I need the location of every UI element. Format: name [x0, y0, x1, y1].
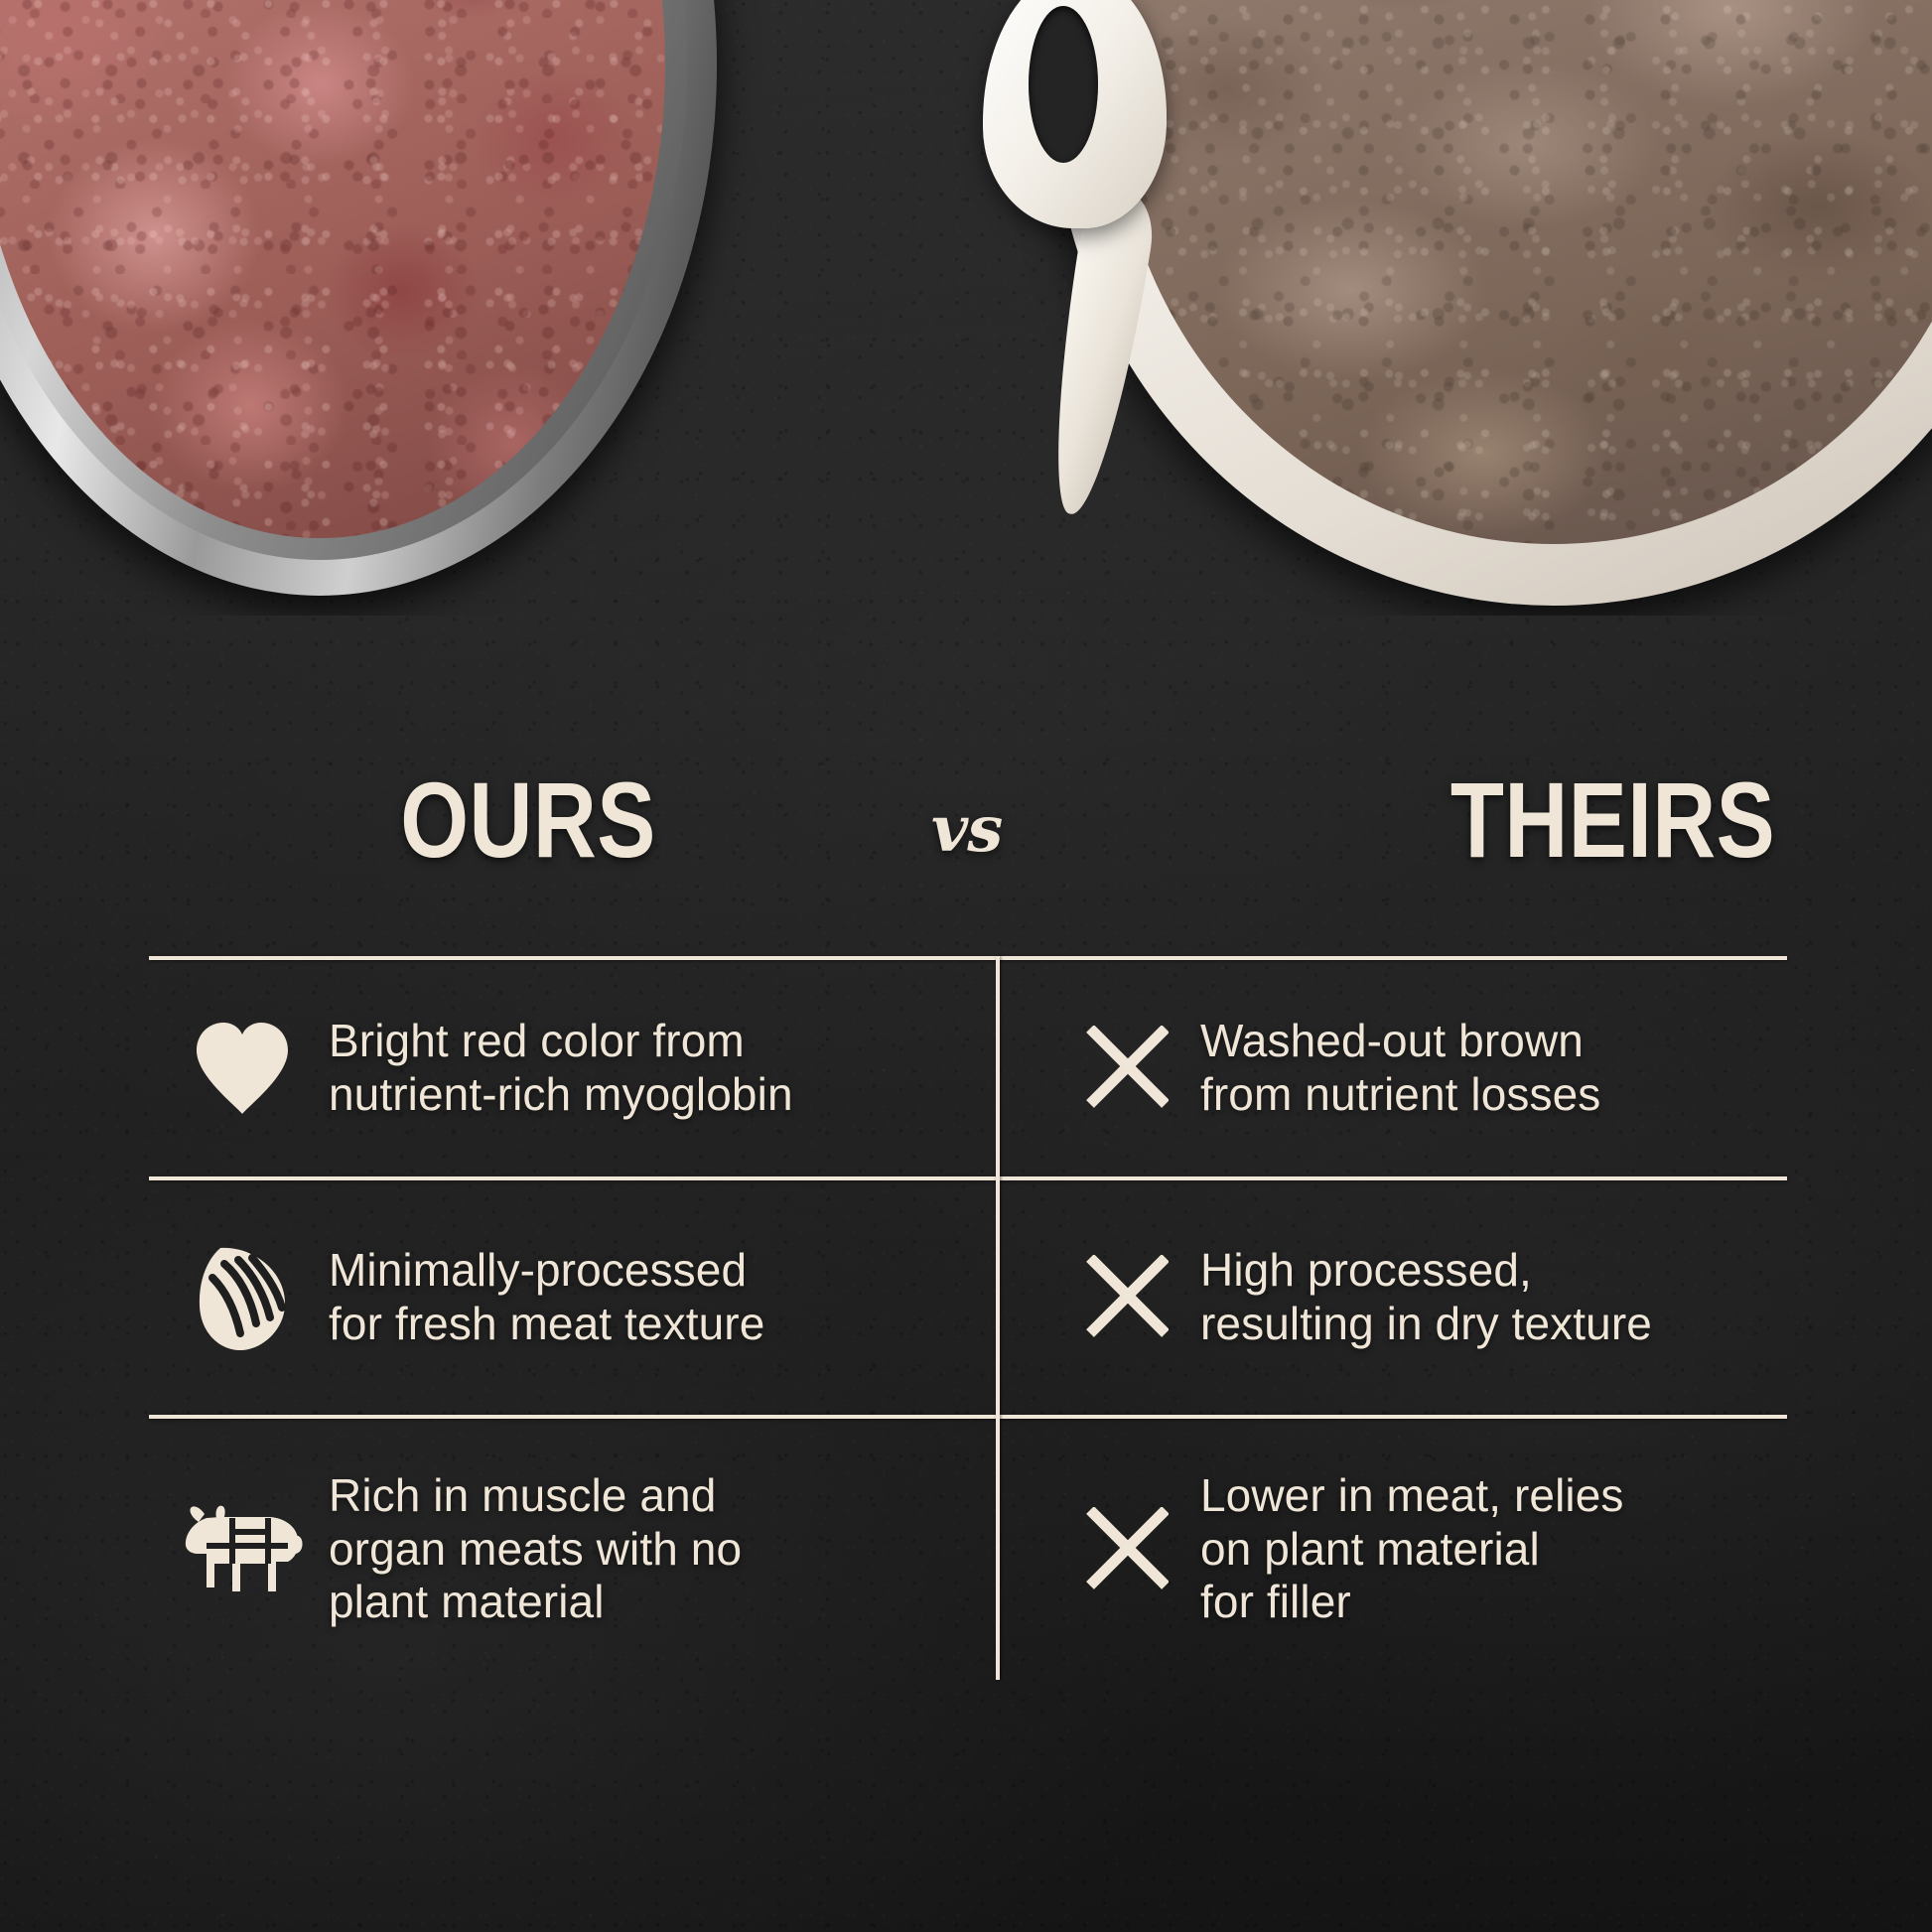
theirs-cell-2: High processed, resulting in dry texture [996, 1180, 1787, 1415]
raw-ground-meat-texture [0, 0, 665, 538]
theirs-text-3-line1: Lower in meat, relies [1200, 1469, 1624, 1523]
ours-text-3: Rich in muscle and organ meats with no p… [329, 1469, 742, 1629]
table-row: Bright red color from nutrient-rich myog… [149, 960, 1787, 1176]
product-photo-band [0, 0, 1932, 616]
cow-icon [155, 1492, 329, 1607]
theirs-text-2-line2: resulting in dry texture [1200, 1298, 1652, 1351]
ours-cell-1: Bright red color from nutrient-rich myog… [149, 960, 996, 1176]
theirs-food-photo-white-dish [1052, 0, 1932, 606]
x-mark-icon [1051, 1255, 1200, 1340]
theirs-header: THEIRS [1450, 766, 1775, 874]
theirs-text-1: Washed-out brown from nutrient losses [1200, 1015, 1600, 1122]
brown-pate-texture [1114, 0, 1932, 544]
ours-text-1-line2: nutrient-rich myoglobin [329, 1068, 793, 1122]
x-mark-icon [1051, 1026, 1200, 1111]
theirs-text-3-line2: on plant material [1200, 1523, 1624, 1577]
ours-food-photo-stainless-bowl [0, 0, 717, 596]
ours-cell-3: Rich in muscle and organ meats with no p… [149, 1419, 996, 1680]
dish-handle [983, 0, 1167, 228]
ours-text-1-line1: Bright red color from [329, 1015, 793, 1068]
table-row: Minimally-processed for fresh meat textu… [149, 1180, 1787, 1415]
theirs-text-1-line1: Washed-out brown [1200, 1015, 1600, 1068]
leaf-icon [155, 1242, 329, 1353]
theirs-text-3: Lower in meat, relies on plant material … [1200, 1469, 1624, 1629]
ours-text-3-line1: Rich in muscle and [329, 1469, 742, 1523]
comparison-table: Bright red color from nutrient-rich myog… [149, 956, 1787, 1681]
theirs-text-3-line3: for filler [1200, 1576, 1624, 1629]
ours-text-3-line3: plant material [329, 1576, 742, 1629]
ours-text-2-line2: for fresh meat texture [329, 1298, 764, 1351]
theirs-cell-3: Lower in meat, relies on plant material … [996, 1419, 1787, 1680]
ours-cell-2: Minimally-processed for fresh meat textu… [149, 1180, 996, 1415]
comparison-headers: OURS vs THEIRS [0, 755, 1932, 933]
ours-text-2-line1: Minimally-processed [329, 1244, 764, 1298]
theirs-text-2: High processed, resulting in dry texture [1200, 1244, 1652, 1351]
x-mark-icon [1051, 1507, 1200, 1592]
heart-icon [155, 1021, 329, 1116]
theirs-cell-1: Washed-out brown from nutrient losses [996, 960, 1787, 1176]
ours-text-1: Bright red color from nutrient-rich myog… [329, 1015, 793, 1122]
ours-text-2: Minimally-processed for fresh meat textu… [329, 1244, 764, 1351]
theirs-text-2-line1: High processed, [1200, 1244, 1652, 1298]
ours-header: OURS [400, 766, 656, 874]
vs-label: vs [931, 792, 1002, 867]
theirs-text-1-line2: from nutrient losses [1200, 1068, 1600, 1122]
ours-text-3-line2: organ meats with no [329, 1523, 742, 1577]
table-row: Rich in muscle and organ meats with no p… [149, 1419, 1787, 1680]
